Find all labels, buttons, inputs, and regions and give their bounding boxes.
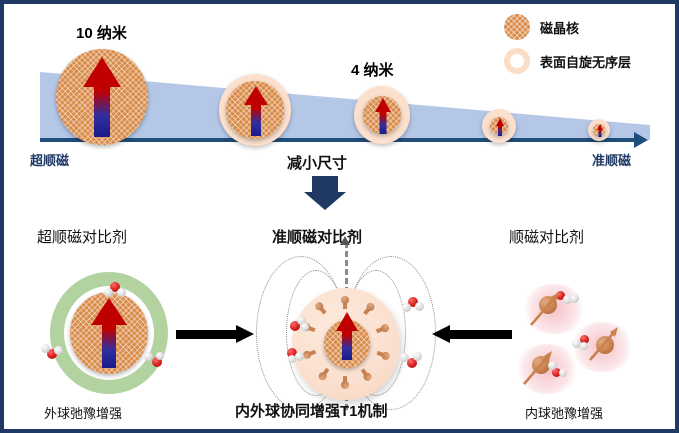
axis-label-quasiparamagnetic: 准顺磁	[592, 150, 631, 169]
legend-item-core: 磁晶核	[504, 14, 631, 40]
axis-label-reduce-size: 减小尺寸	[287, 152, 347, 173]
column-title-paramagnetic: 顺磁对比剂	[509, 226, 584, 247]
ion-spin-arrow	[582, 322, 628, 368]
figure-canvas: 10 纳米 4 纳米 磁晶核 表面自旋无序层 超顺磁 准顺磁 减小尺寸 超顺磁对…	[0, 0, 679, 433]
column-subtitle-outer-sphere: 外球弛豫增强	[44, 403, 122, 422]
water-molecule	[286, 346, 308, 362]
legend-item-shell: 表面自旋无序层	[504, 48, 631, 74]
nanoparticle-smallest	[588, 119, 610, 141]
surface-spin	[340, 296, 349, 309]
spin-arrow	[244, 86, 268, 136]
quasi-spin-arrow	[336, 312, 358, 360]
surface-spin	[341, 376, 350, 389]
outer-sphere-spin-arrow	[91, 298, 127, 368]
water-molecule	[400, 352, 424, 370]
arrow-left-to-center	[176, 330, 254, 339]
magnetism-axis-arrowhead	[634, 132, 648, 148]
spin-arrow	[83, 57, 121, 137]
field-axis-arrowhead	[340, 236, 350, 245]
ion-spin-arrow	[516, 346, 562, 392]
nanoparticle-8nm	[219, 74, 291, 146]
nanoparticle-small	[482, 109, 516, 143]
legend: 磁晶核 表面自旋无序层	[504, 14, 631, 82]
water-molecule	[144, 352, 166, 368]
column-title-superparamagnetic: 超顺磁对比剂	[37, 226, 127, 247]
legend-label-shell: 表面自旋无序层	[540, 52, 631, 71]
spin-arrow	[495, 118, 504, 136]
water-molecule	[41, 344, 63, 360]
reduce-size-arrow-icon	[304, 176, 346, 210]
spin-arrow	[374, 98, 391, 134]
column-subtitle-inner-sphere: 内球弛豫增强	[525, 403, 603, 422]
nanoparticle-4nm	[354, 86, 410, 144]
ion-spin-arrow	[523, 287, 569, 333]
axis-label-superparamagnetic: 超顺磁	[30, 150, 69, 169]
spin-arrow	[596, 124, 603, 137]
nanoparticle-10nm	[56, 49, 148, 145]
legend-label-core: 磁晶核	[540, 18, 579, 37]
shell-ring-icon	[504, 48, 530, 74]
size-label-10nm: 10 纳米	[76, 22, 127, 43]
water-molecule	[289, 316, 311, 332]
size-label-4nm: 4 纳米	[351, 59, 394, 80]
water-molecule	[402, 297, 426, 315]
arrow-right-to-center	[432, 330, 512, 339]
water-molecule	[104, 282, 126, 298]
core-disc-icon	[504, 14, 530, 40]
column-subtitle-synergistic: 内外球协同增强T1机制	[235, 400, 388, 421]
